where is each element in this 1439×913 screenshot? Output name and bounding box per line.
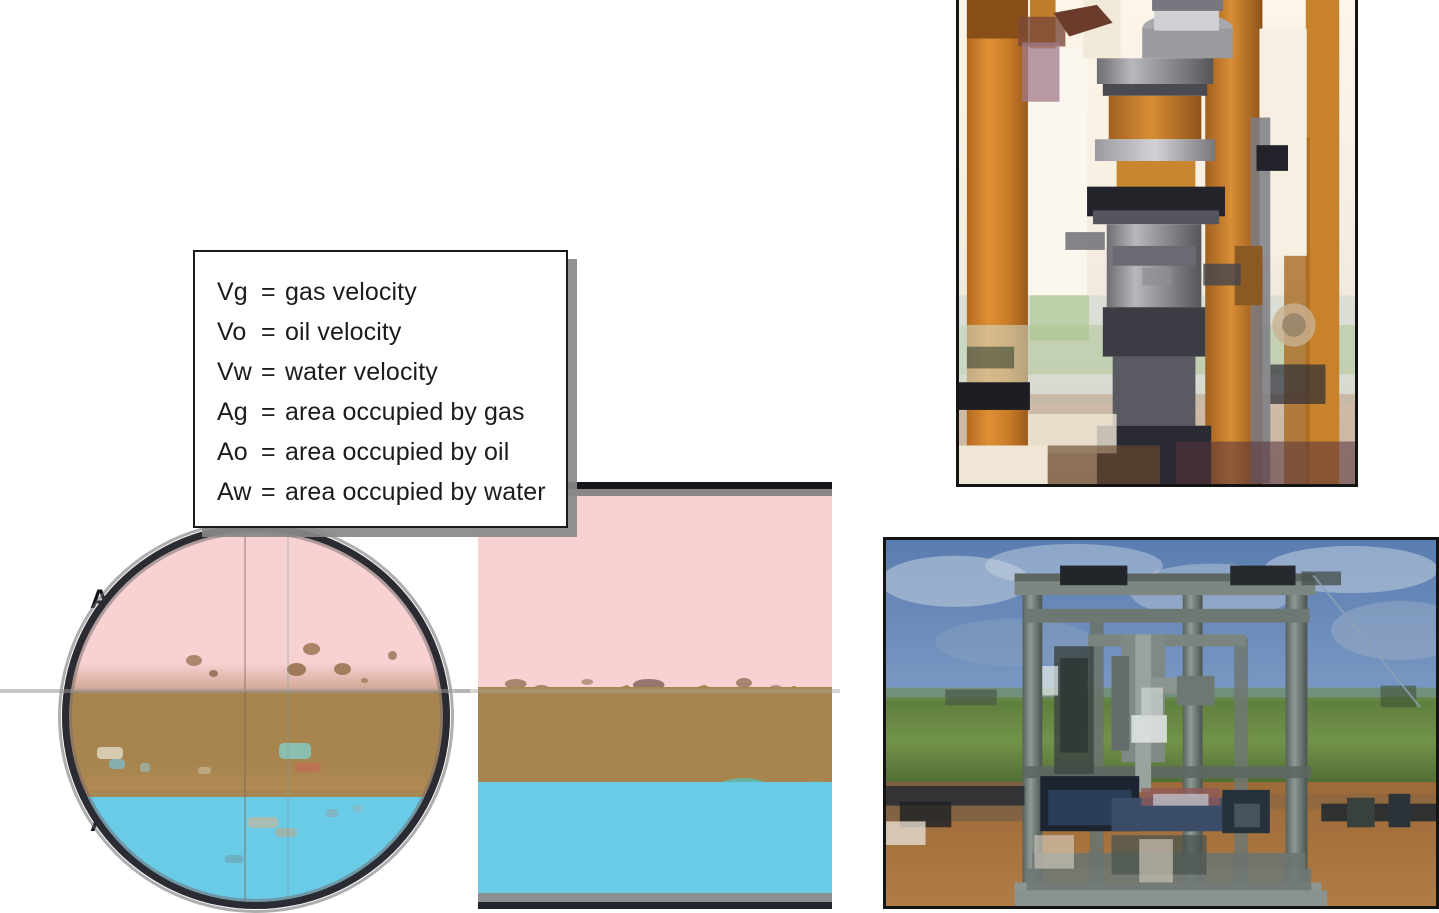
- legend-row: Vw = water velocity: [217, 352, 556, 392]
- pipe-cross-section: [62, 524, 450, 909]
- pipe-water-layer: [478, 782, 832, 893]
- legend-definition: area occupied by oil: [285, 432, 509, 472]
- pipe-bottom-wall: [478, 893, 832, 909]
- legend-definition: area occupied by gas: [285, 392, 525, 432]
- legend-equals: =: [261, 432, 285, 472]
- legend-equals: =: [261, 312, 285, 352]
- legend-symbol: Vo: [217, 312, 261, 352]
- legend-row: Ag = area occupied by gas: [217, 392, 556, 432]
- legend-symbol: Vg: [217, 272, 261, 312]
- legend-definition: gas velocity: [285, 272, 417, 312]
- legend-symbol: Vw: [217, 352, 261, 392]
- legend-equals: =: [261, 352, 285, 392]
- legend-symbol: Ao: [217, 432, 261, 472]
- symbol-legend-box: Vg = gas velocity Vo = oil velocity Vw =…: [193, 250, 568, 528]
- legend-definition: oil velocity: [285, 312, 402, 352]
- pipe-longitudinal-section: [478, 482, 832, 909]
- wellhead-photo-content: [959, 0, 1355, 484]
- legend-symbol: Ag: [217, 392, 261, 432]
- metering-skid-photo-content: [886, 540, 1436, 906]
- legend-row: Ao = area occupied by oil: [217, 432, 556, 472]
- metering-skid-photo: [883, 537, 1439, 909]
- pipe-bottom-wall-gray-band: [478, 893, 832, 902]
- legend-row: Aw = area occupied by water: [217, 472, 556, 512]
- legend-definition: area occupied by water: [285, 472, 546, 512]
- legend-equals: =: [261, 272, 285, 312]
- legend-equals: =: [261, 392, 285, 432]
- pipe-interior: [478, 496, 832, 893]
- legend-equals: =: [261, 472, 285, 512]
- gas-oil-interface-rule-right: [455, 689, 840, 693]
- legend-row: Vg = gas velocity: [217, 272, 556, 312]
- wellhead-photo: [956, 0, 1358, 487]
- symbol-legend-list: Vg = gas velocity Vo = oil velocity Vw =…: [217, 272, 556, 512]
- legend-row: Vo = oil velocity: [217, 312, 556, 352]
- gas-oil-interface-rule-left: [0, 689, 470, 693]
- legend-symbol: Aw: [217, 472, 261, 512]
- pipe-bottom-wall-dark-band: [478, 902, 832, 909]
- gas-bubble: [93, 578, 100, 594]
- legend-definition: water velocity: [285, 352, 438, 392]
- pipe-wall-ring: [62, 524, 450, 909]
